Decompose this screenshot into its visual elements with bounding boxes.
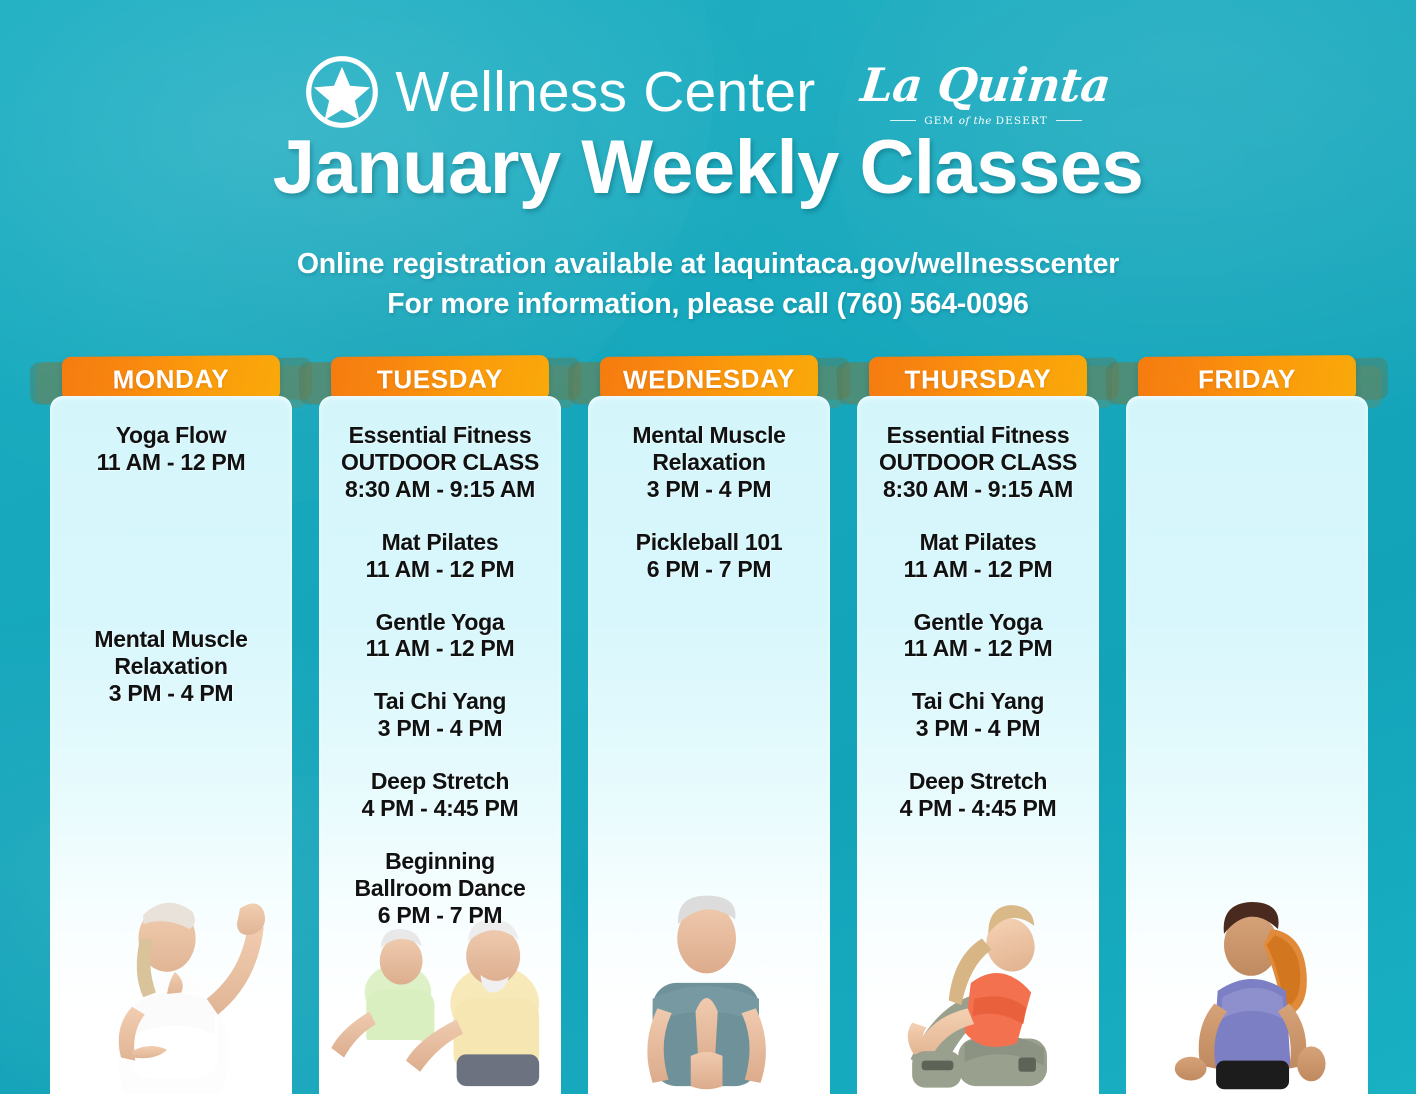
class-entry[interactable]: Tai Chi Yang3 PM - 4 PM: [327, 688, 553, 742]
woman-tai-chi-photo: [50, 856, 292, 1094]
la-quinta-logo: La Quinta GEM of the DESERT: [839, 58, 1110, 127]
day-column-friday: FRIDAY: [1120, 352, 1374, 1094]
weekly-schedule-grid: MONDAYYoga Flow11 AM - 12 PMMental Muscl…: [44, 352, 1374, 1094]
class-entry[interactable]: Mental MuscleRelaxation3 PM - 4 PM: [596, 422, 822, 503]
class-name: Gentle Yoga: [327, 609, 553, 636]
circle-star-icon: [305, 55, 379, 129]
class-entry[interactable]: Deep Stretch4 PM - 4:45 PM: [327, 768, 553, 822]
day-header-monday[interactable]: MONDAY: [62, 355, 280, 402]
header-subtitles: Online registration available at laquint…: [0, 244, 1416, 325]
day-card: Essential FitnessOUTDOOR CLASS8:30 AM - …: [319, 396, 561, 1094]
class-name: Tai Chi Yang: [327, 688, 553, 715]
class-time: 11 AM - 12 PM: [327, 556, 553, 583]
class-time: 11 AM - 12 PM: [865, 556, 1091, 583]
class-entry[interactable]: Pickleball 1016 PM - 7 PM: [596, 529, 822, 583]
day-header-tuesday[interactable]: TUESDAY: [331, 355, 549, 402]
senior-man-prayer-pose-photo: [588, 856, 830, 1094]
class-time: 11 AM - 12 PM: [58, 449, 284, 476]
class-time: 6 PM - 7 PM: [327, 902, 553, 929]
class-time: 4 PM - 4:45 PM: [327, 795, 553, 822]
class-list: [1126, 396, 1368, 422]
class-entry[interactable]: Essential FitnessOUTDOOR CLASS8:30 AM - …: [327, 422, 553, 503]
class-entry[interactable]: BeginningBallroom Dance6 PM - 7 PM: [327, 848, 553, 929]
class-list: Essential FitnessOUTDOOR CLASS8:30 AM - …: [319, 396, 561, 929]
class-name: Gentle Yoga: [865, 609, 1091, 636]
class-name: Mat Pilates: [865, 529, 1091, 556]
class-name: Tai Chi Yang: [865, 688, 1091, 715]
tagline-rule-left: [890, 120, 916, 121]
class-entry[interactable]: Deep Stretch4 PM - 4:45 PM: [865, 768, 1091, 822]
day-label: FRIDAY: [1198, 365, 1296, 392]
day-column-tuesday: TUESDAYEssential FitnessOUTDOOR CLASS8:3…: [313, 352, 567, 1094]
day-column-monday: MONDAYYoga Flow11 AM - 12 PMMental Muscl…: [44, 352, 298, 1094]
class-entry[interactable]: Tai Chi Yang3 PM - 4 PM: [865, 688, 1091, 742]
tagline-rule-right: [1056, 120, 1082, 121]
day-card: Essential FitnessOUTDOOR CLASS8:30 AM - …: [857, 396, 1099, 1094]
phone-info: For more information, please call (760) …: [0, 284, 1416, 324]
class-time: 8:30 AM - 9:15 AM: [327, 476, 553, 503]
class-name: Yoga Flow: [58, 422, 284, 449]
woman-pigeon-pose-photo: [857, 856, 1099, 1094]
class-name: Essential FitnessOUTDOOR CLASS: [865, 422, 1091, 476]
class-time: 3 PM - 4 PM: [58, 680, 284, 707]
class-list: Mental MuscleRelaxation3 PM - 4 PMPickle…: [588, 396, 830, 583]
day-header-thursday[interactable]: THURSDAY: [869, 355, 1087, 402]
class-time: 6 PM - 7 PM: [596, 556, 822, 583]
class-name: Mental MuscleRelaxation: [596, 422, 822, 476]
woman-meditating-lotus-photo: [1126, 856, 1368, 1094]
class-list: Essential FitnessOUTDOOR CLASS8:30 AM - …: [857, 396, 1099, 822]
day-card: Yoga Flow11 AM - 12 PMMental MuscleRelax…: [50, 396, 292, 1094]
class-time: 8:30 AM - 9:15 AM: [865, 476, 1091, 503]
class-name: Pickleball 101: [596, 529, 822, 556]
brand-name: Wellness Center: [395, 64, 815, 121]
wellness-center-flyer: Wellness Center La Quinta GEM of the DES…: [0, 0, 1416, 1094]
class-time: 3 PM - 4 PM: [865, 715, 1091, 742]
class-entry[interactable]: Mental MuscleRelaxation3 PM - 4 PM: [58, 626, 284, 707]
page-title: January Weekly Classes: [0, 128, 1416, 208]
day-header-friday[interactable]: FRIDAY: [1138, 355, 1356, 402]
class-name: Mat Pilates: [327, 529, 553, 556]
la-quinta-script: La Quinta: [859, 62, 1113, 108]
wellness-center-brand: Wellness Center: [305, 55, 815, 129]
day-label: TUESDAY: [377, 365, 503, 392]
day-label: THURSDAY: [904, 365, 1051, 392]
day-card: [1126, 396, 1368, 1094]
class-time: 11 AM - 12 PM: [327, 635, 553, 662]
day-column-thursday: THURSDAYEssential FitnessOUTDOOR CLASS8:…: [851, 352, 1105, 1094]
day-header-wednesday[interactable]: WEDNESDAY: [600, 355, 818, 402]
class-time: 11 AM - 12 PM: [865, 635, 1091, 662]
day-label: WEDNESDAY: [623, 365, 795, 393]
class-entry[interactable]: Essential FitnessOUTDOOR CLASS8:30 AM - …: [865, 422, 1091, 503]
day-column-wednesday: WEDNESDAYMental MuscleRelaxation3 PM - 4…: [582, 352, 836, 1094]
class-entry[interactable]: Mat Pilates11 AM - 12 PM: [327, 529, 553, 583]
class-name: Essential FitnessOUTDOOR CLASS: [327, 422, 553, 476]
class-name: Deep Stretch: [327, 768, 553, 795]
class-name: Deep Stretch: [865, 768, 1091, 795]
class-time: 3 PM - 4 PM: [327, 715, 553, 742]
class-name: BeginningBallroom Dance: [327, 848, 553, 902]
class-list: Yoga Flow11 AM - 12 PMMental MuscleRelax…: [50, 396, 292, 707]
day-label: MONDAY: [112, 365, 229, 392]
class-entry[interactable]: Yoga Flow11 AM - 12 PM: [58, 422, 284, 476]
class-entry[interactable]: Gentle Yoga11 AM - 12 PM: [865, 609, 1091, 663]
class-entry[interactable]: Mat Pilates11 AM - 12 PM: [865, 529, 1091, 583]
class-time: 4 PM - 4:45 PM: [865, 795, 1091, 822]
class-time: 3 PM - 4 PM: [596, 476, 822, 503]
class-name: Mental MuscleRelaxation: [58, 626, 284, 680]
registration-info: Online registration available at laquint…: [0, 244, 1416, 284]
day-card: Mental MuscleRelaxation3 PM - 4 PMPickle…: [588, 396, 830, 1094]
class-entry[interactable]: Gentle Yoga11 AM - 12 PM: [327, 609, 553, 663]
